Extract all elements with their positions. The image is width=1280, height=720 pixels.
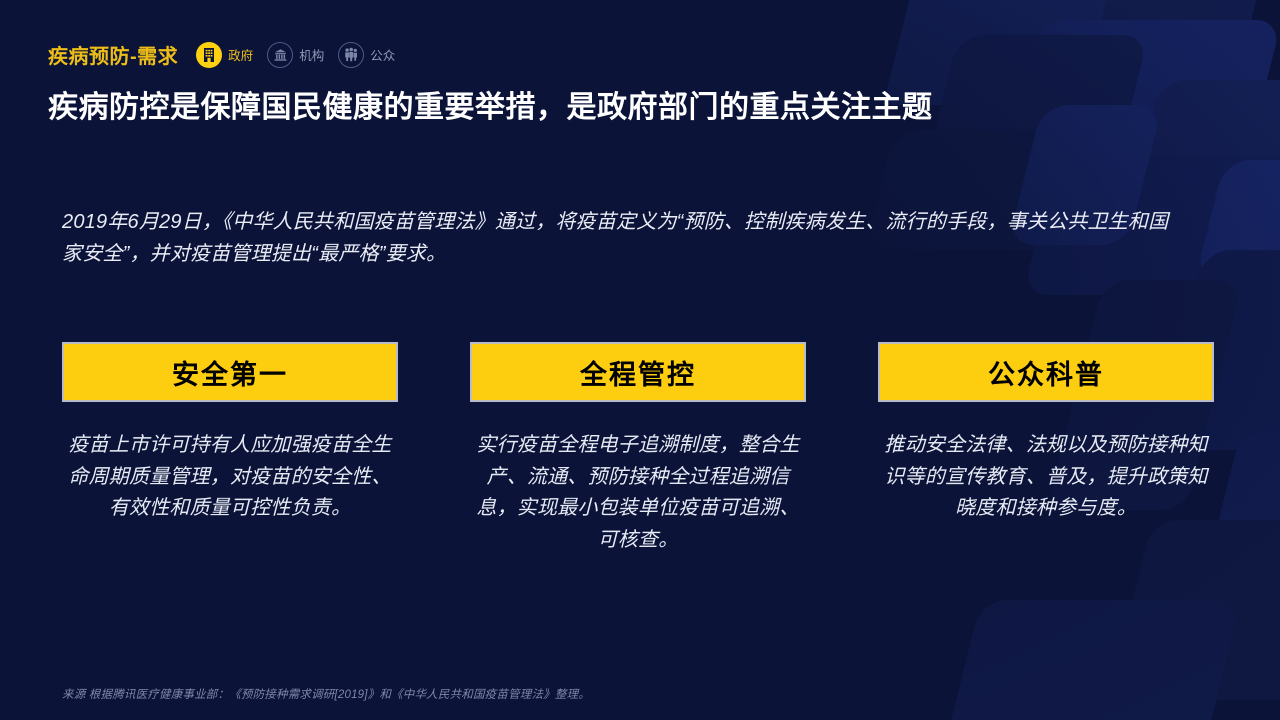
principle-card: 公众科普 推动安全法律、法规以及预防接种知识等的宣传教育、普及，提升政策知晓度和… <box>878 342 1214 556</box>
page-title: 疾病防控是保障国民健康的重要举措，是政府部门的重点关注主题 <box>48 82 933 126</box>
audience-badge-label: 公众 <box>370 45 395 64</box>
audience-badge-label: 政府 <box>228 45 253 64</box>
source-footnote: 来源 根据腾讯医疗健康事业部：《预防接种需求调研[2019]》和《中华人民共和国… <box>62 686 590 702</box>
audience-badge-government[interactable]: 政府 <box>196 42 253 68</box>
eyebrow-row: 疾病预防-需求 <box>48 40 395 69</box>
bg-shape <box>921 35 1148 185</box>
principle-card-header: 安全第一 <box>62 342 398 402</box>
lead-paragraph: 2019年6月29日，《中华人民共和国疫苗管理法》通过，将疫苗定义为“预防、控制… <box>62 206 1182 271</box>
principle-card: 全程管控 实行疫苗全程电子追溯制度，整合生产、流通、预防接种全过程追溯信息，实现… <box>470 342 806 556</box>
principle-card-body: 推动安全法律、法规以及预防接种知识等的宣传教育、普及，提升政策知晓度和接种参与度… <box>878 430 1214 525</box>
principle-card: 安全第一 疫苗上市许可持有人应加强疫苗全生命周期质量管理，对疫苗的安全性、有效性… <box>62 342 398 556</box>
slide-canvas: 疾病预防-需求 <box>0 0 1280 720</box>
institution-bank-icon <box>267 42 293 68</box>
section-kicker: 疾病预防-需求 <box>48 40 178 69</box>
audience-badge-institution[interactable]: 机构 <box>267 42 324 68</box>
bg-shape <box>1018 20 1280 115</box>
principle-card-title: 公众科普 <box>988 353 1104 392</box>
people-group-icon <box>338 42 364 68</box>
bg-shape <box>939 600 1241 720</box>
principle-card-header: 公众科普 <box>878 342 1214 402</box>
government-building-icon <box>196 42 222 68</box>
principle-card-group: 安全第一 疫苗上市许可持有人应加强疫苗全生命周期质量管理，对疫苗的安全性、有效性… <box>62 342 1214 556</box>
principle-card-body: 实行疫苗全程电子追溯制度，整合生产、流通、预防接种全过程追溯信息，实现最小包装单… <box>470 430 806 556</box>
principle-card-body: 疫苗上市许可持有人应加强疫苗全生命周期质量管理，对疫苗的安全性、有效性和质量可控… <box>62 430 398 525</box>
audience-badge-label: 机构 <box>299 45 324 64</box>
bg-shape <box>1089 0 1271 70</box>
bg-shape <box>1195 160 1280 280</box>
principle-card-header: 全程管控 <box>470 342 806 402</box>
audience-badge-group: 政府 机构 <box>196 42 395 68</box>
principle-card-title: 安全第一 <box>172 353 288 392</box>
audience-badge-public[interactable]: 公众 <box>338 42 395 68</box>
principle-card-title: 全程管控 <box>580 353 696 392</box>
